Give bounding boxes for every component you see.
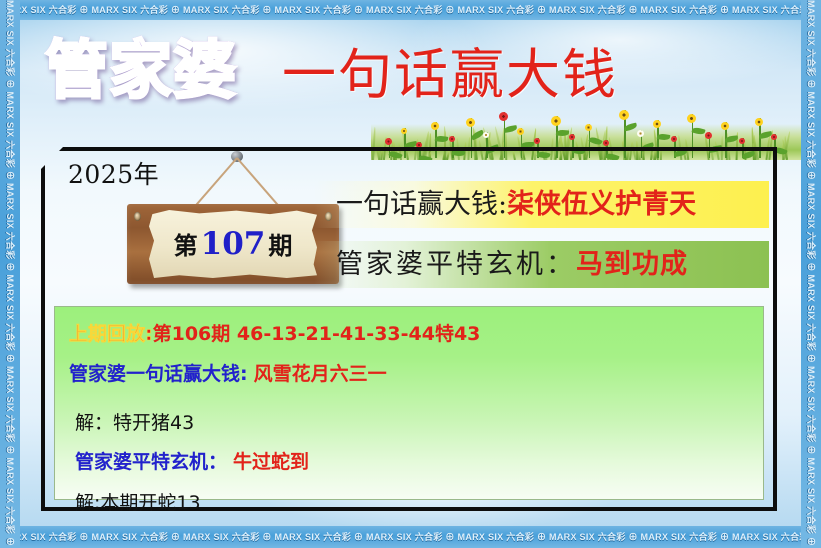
answer-row-1: 解：特开猪43 [69, 408, 763, 435]
previous-draw-value: 第106期 46-13-21-41-33-44特43 [153, 323, 481, 345]
flower-icon [401, 128, 407, 134]
sign-rope-right [236, 157, 278, 205]
banner-green-value: 马到功成 [576, 249, 688, 280]
flower-icon [585, 124, 592, 131]
flower-icon [569, 134, 575, 140]
flower-icon [687, 114, 696, 123]
mystery-row: 管家婆平特玄机：牛过蛇到 [69, 447, 763, 474]
wooden-board: 第107期 [127, 204, 339, 284]
mystery-value: 牛过蛇到 [227, 451, 309, 473]
flower-icon [499, 112, 508, 121]
banner-yellow-value: 柒侠伍义护青天 [507, 189, 696, 220]
decorative-border-left: MARX SIX 六合彩 ⊕ MARX SIX 六合彩 ⊕ MARX SIX 六… [0, 0, 20, 548]
flower-icon [534, 138, 540, 144]
flower-icon [653, 120, 661, 128]
parchment-label: 第107期 [149, 210, 317, 278]
phrase-value: 风雪花月六三一 [248, 363, 387, 385]
flower-icon [517, 128, 524, 135]
issue-number-text: 第107期 [174, 226, 293, 262]
issue-number: 107 [198, 226, 269, 262]
answer-row-2: 解:本期开蛇13 [69, 488, 763, 515]
previous-draw-row: 上期回放:第106期 46-13-21-41-33-44特43 [69, 319, 763, 346]
banner-green-label: 管家婆平特玄机： [336, 249, 576, 280]
issue-prefix: 第 [174, 231, 198, 260]
flower-icon [466, 118, 475, 127]
border-pattern-text: MARX SIX 六合彩 ⊕ MARX SIX 六合彩 ⊕ MARX SIX 六… [0, 0, 20, 548]
banner-green-mystery: 管家婆平特玄机：马到功成 [314, 241, 769, 288]
flower-icon [721, 122, 729, 130]
flower-icon [671, 136, 677, 142]
site-logo-outline: 管家婆 [45, 33, 237, 109]
decorative-border-right: MARX SIX 六合彩 ⊕ MARX SIX 六合彩 ⊕ MARX SIX 六… [801, 0, 821, 548]
previous-draw-label: 上期回放: [69, 323, 153, 345]
flower-icon [483, 132, 489, 138]
flower-icon [449, 136, 455, 142]
issue-suffix: 期 [268, 231, 292, 260]
flower-icon [385, 138, 392, 145]
sign-rope-left [196, 157, 238, 205]
flower-icon [431, 122, 439, 130]
phrase-row: 管家婆一句话赢大钱:风雪花月六三一 [69, 359, 763, 386]
main-content-panel: 第107期 一句话赢大钱:柒侠伍义护青天 管家婆平特玄机：马到功成 上期回放:第… [41, 147, 777, 511]
flower-icon [705, 132, 712, 139]
mystery-label: 管家婆平特玄机： [75, 451, 227, 473]
flower-icon [739, 138, 745, 144]
banner-yellow-label: 一句话赢大钱: [336, 189, 507, 220]
flower-icon [755, 118, 763, 126]
decorative-border-bottom: MARX SIX 六合彩 ⊕ MARX SIX 六合彩 ⊕ MARX SIX 六… [0, 526, 821, 548]
decorative-border-top: MARX SIX 六合彩 ⊕ MARX SIX 六合彩 ⊕ MARX SIX 六… [0, 0, 821, 20]
flower-icon [551, 116, 561, 126]
border-pattern-text: MARX SIX 六合彩 ⊕ MARX SIX 六合彩 ⊕ MARX SIX 六… [0, 5, 821, 15]
banner-yellow-phrase: 一句话赢大钱:柒侠伍义护青天 [314, 181, 769, 228]
flower-icon [637, 130, 644, 137]
flower-icon [619, 110, 629, 120]
phrase-label: 管家婆一句话赢大钱: [69, 363, 248, 385]
border-pattern-text: MARX SIX 六合彩 ⊕ MARX SIX 六合彩 ⊕ MARX SIX 六… [0, 532, 821, 542]
flower-icon [771, 134, 777, 140]
border-pattern-text: MARX SIX 六合彩 ⊕ MARX SIX 六合彩 ⊕ MARX SIX 六… [801, 0, 821, 548]
poster-stage: 管家婆 一句话赢大钱 (function(){ const g = docume… [20, 20, 801, 526]
flower-icon [603, 140, 609, 146]
results-content-box: 上期回放:第106期 46-13-21-41-33-44特43 管家婆一句话赢大… [54, 306, 764, 500]
year-label: 2025年 [68, 155, 159, 191]
